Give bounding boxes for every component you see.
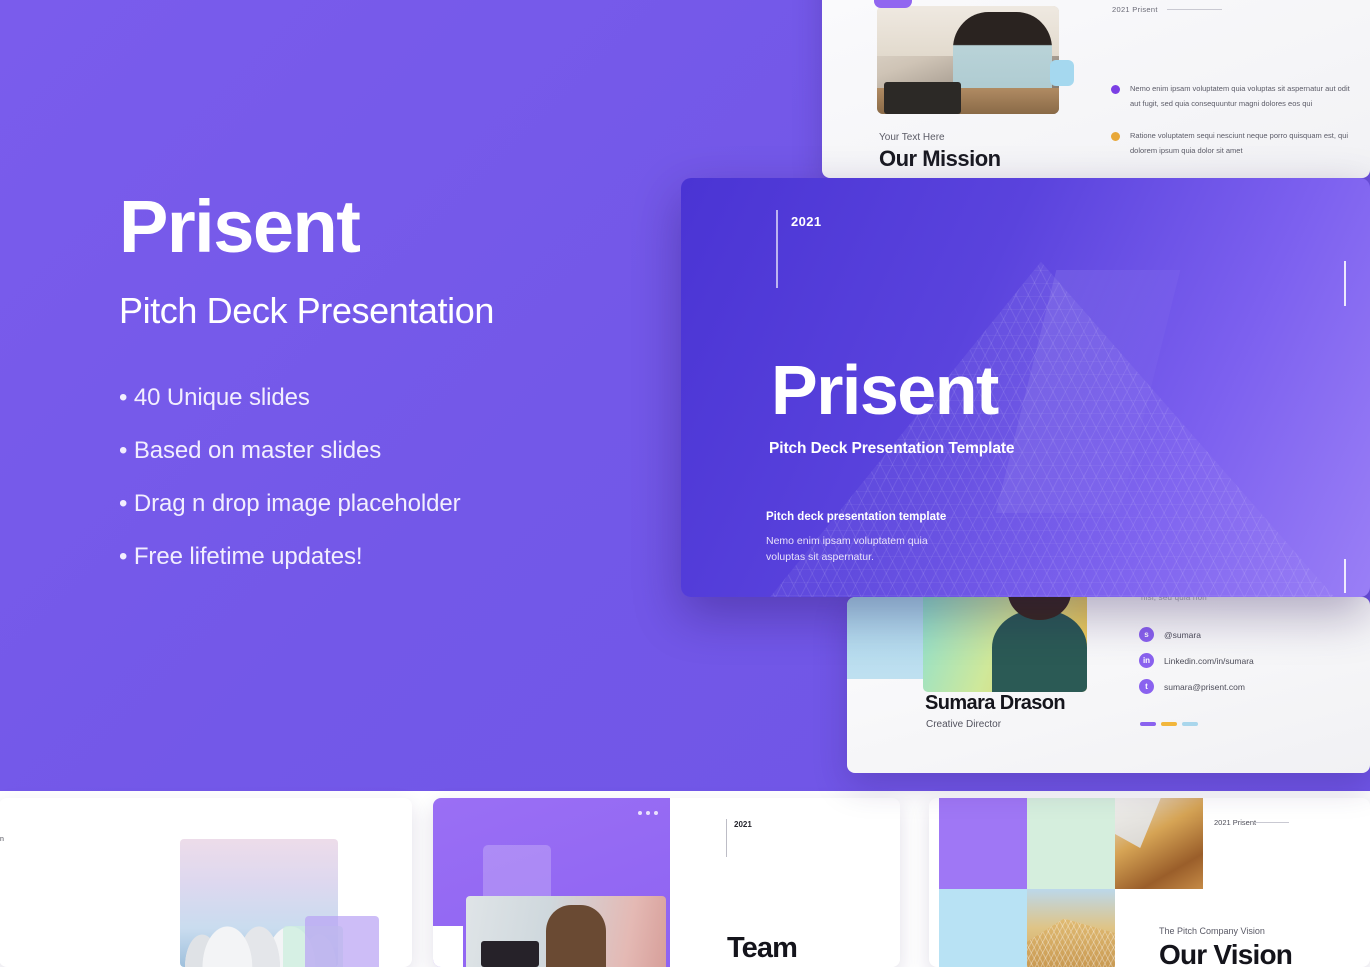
thumbnail-vision-slide[interactable]: 2021 Prisent The Pitch Company Vision Ou…	[929, 798, 1370, 967]
slide-main-title[interactable]: 2021 Prisent Pitch Deck Presentation Tem…	[681, 178, 1370, 597]
slide-our-mission[interactable]: 2021 Prisent Your Text Here Our Mission …	[822, 0, 1370, 178]
skype-icon: s	[1139, 627, 1154, 642]
list-item[interactable]: in Linkedin.com/in/sumara	[1139, 653, 1254, 668]
bullet-dot-icon	[1111, 85, 1120, 94]
stairs-photo	[1115, 798, 1203, 889]
tumblr-icon: t	[1139, 679, 1154, 694]
main-footer-heading: Pitch deck presentation template	[766, 511, 946, 523]
color-swatch-bars	[1140, 722, 1198, 726]
list-item: • Free lifetime updates!	[119, 543, 679, 571]
team-title: Team	[727, 932, 797, 965]
edge-accent-bottom	[1344, 559, 1346, 593]
social-links: s @sumara in Linkedin.com/in/sumara t su…	[1139, 627, 1254, 705]
main-footer-body: Nemo enim ipsam voluptatem quia voluptas…	[766, 533, 956, 566]
blue-square-decor	[1050, 60, 1074, 86]
avatar	[923, 597, 1087, 692]
sky-tile-decor	[939, 889, 1027, 967]
purple-square-decor	[874, 0, 912, 8]
vision-year-label: 2021 Prisent	[1214, 818, 1256, 827]
main-year-label: 2021	[791, 214, 822, 229]
white-block-decor	[433, 926, 463, 967]
more-dots-icon[interactable]	[638, 811, 658, 815]
bullet-dot-icon	[1111, 132, 1120, 141]
main-slide-subtitle: Pitch Deck Presentation Template	[769, 440, 1014, 458]
purple-tile-decor	[939, 798, 1027, 889]
linkedin-icon: in	[1139, 653, 1154, 668]
promo-panel: Prisent Pitch Deck Presentation • 40 Uni…	[119, 190, 679, 596]
member-name: Sumara Drason	[925, 692, 1065, 715]
list-item: • Drag n drop image placeholder	[119, 490, 679, 518]
truncated-text: nisi, sed quia non	[1141, 597, 1207, 602]
list-item: Nemo enim ipsam voluptatem quia voluptas…	[1111, 82, 1351, 111]
feature-list: • 40 Unique slides • Based on master sli…	[119, 384, 679, 571]
lavender-square-decor	[305, 916, 379, 967]
team-year-label: 2021	[734, 820, 752, 829]
swatch-purple	[1140, 722, 1156, 726]
list-item: Ratione voluptatem sequi nesciunt neque …	[1111, 129, 1351, 158]
list-item[interactable]: s @sumara	[1139, 627, 1254, 642]
pavilion-photo	[1027, 889, 1115, 967]
mission-year-label: 2021 Prisent	[1112, 5, 1158, 14]
corner-glyph: n	[0, 836, 4, 843]
list-item[interactable]: t sumara@prisent.com	[1139, 679, 1254, 694]
bullet-text: Ratione voluptatem sequi nesciunt neque …	[1130, 129, 1351, 158]
mission-bullet-list: Nemo enim ipsam voluptatem quia voluptas…	[1111, 82, 1351, 177]
social-handle: @sumara	[1164, 630, 1201, 640]
team-photo	[466, 896, 666, 967]
mission-photo	[877, 6, 1059, 114]
mint-tile-decor	[1027, 798, 1115, 889]
vision-title: Our Vision	[1159, 939, 1292, 967]
main-slide-title: Prisent	[771, 350, 998, 430]
vertical-rule	[776, 210, 778, 288]
social-handle: Linkedin.com/in/sumara	[1164, 656, 1254, 666]
vertical-rule	[726, 819, 727, 857]
list-item: • 40 Unique slides	[119, 384, 679, 412]
swatch-amber	[1161, 722, 1177, 726]
thumbnail-team-slide[interactable]: 2021 Team	[433, 798, 900, 967]
mission-kicker: Your Text Here	[879, 132, 945, 143]
list-item: • Based on master slides	[119, 437, 679, 465]
vision-kicker: The Pitch Company Vision	[1159, 926, 1265, 936]
page-title: Prisent	[119, 190, 679, 264]
divider	[1167, 9, 1222, 10]
swatch-sky	[1182, 722, 1198, 726]
social-handle: sumara@prisent.com	[1164, 682, 1245, 692]
thumbnail-lotus-slide[interactable]	[0, 798, 412, 967]
mission-title: Our Mission	[879, 146, 1001, 172]
member-role: Creative Director	[926, 719, 1001, 730]
promo-subtitle: Pitch Deck Presentation	[119, 290, 679, 332]
edge-accent-top	[1344, 261, 1346, 306]
slide-team-member[interactable]: nisi, sed quia non Sumara Drason Creativ…	[847, 597, 1370, 773]
divider	[1254, 822, 1289, 823]
bullet-text: Nemo enim ipsam voluptatem quia voluptas…	[1130, 82, 1351, 111]
